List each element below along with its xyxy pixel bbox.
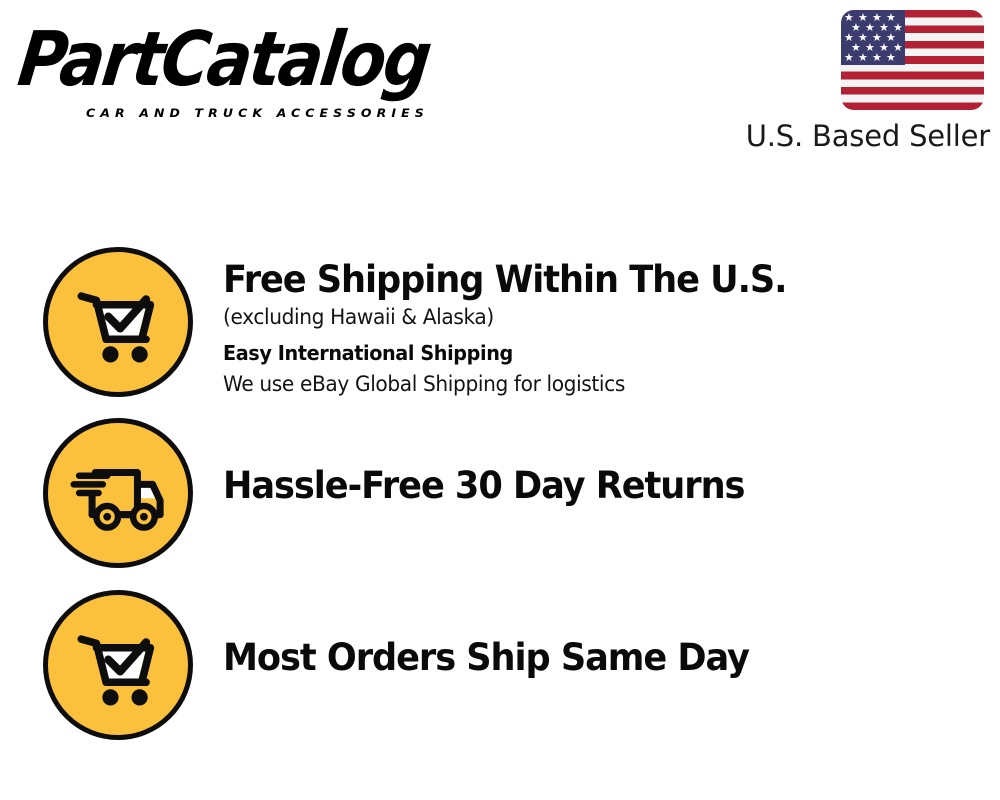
delivery-truck-icon [43, 418, 193, 568]
feature-heading: Free Shipping Within The U.S. [223, 257, 945, 302]
feature-heading: Most Orders Ship Same Day [223, 635, 945, 680]
brand-tagline: CAR AND TRUCK ACCESSORIES [86, 106, 429, 120]
feature-subnote: (excluding Hawaii & Alaska) [223, 302, 953, 332]
brand-wordmark: PartCatalog [14, 20, 494, 100]
flag-canton: ★ ★ ★ ★ ★ ★ ★ ★ ★ ★ ★ ★ ★ ★ ★ ★ ★ ★ ★ ★ [841, 10, 905, 65]
feature-row: Most Orders Ship Same Day [43, 590, 983, 740]
us-flag-icon: ★ ★ ★ ★ ★ ★ ★ ★ ★ ★ ★ ★ ★ ★ ★ ★ ★ ★ ★ ★ [841, 10, 984, 110]
shopping-cart-check-icon [43, 247, 193, 397]
feature-row: Free Shipping Within The U.S. (excluding… [43, 247, 983, 399]
seller-badge-label: U.S. Based Seller [730, 119, 990, 153]
feature-row: Hassle-Free 30 Day Returns [43, 418, 983, 568]
promo-banner: PartCatalog CAR AND TRUCK ACCESSORIES ★ … [0, 0, 1000, 800]
feature-text: Hassle-Free 30 Day Returns [193, 418, 983, 508]
feature-subdetail: We use eBay Global Shipping for logistic… [223, 369, 953, 399]
shopping-cart-check-icon [43, 590, 193, 740]
feature-text: Free Shipping Within The U.S. (excluding… [193, 247, 983, 399]
brand-logo: PartCatalog CAR AND TRUCK ACCESSORIES [24, 20, 494, 112]
feature-subheading: Easy International Shipping [223, 338, 953, 369]
feature-heading: Hassle-Free 30 Day Returns [223, 463, 945, 508]
seller-badge: ★ ★ ★ ★ ★ ★ ★ ★ ★ ★ ★ ★ ★ ★ ★ ★ ★ ★ ★ ★ [730, 10, 990, 153]
feature-text: Most Orders Ship Same Day [193, 590, 983, 680]
